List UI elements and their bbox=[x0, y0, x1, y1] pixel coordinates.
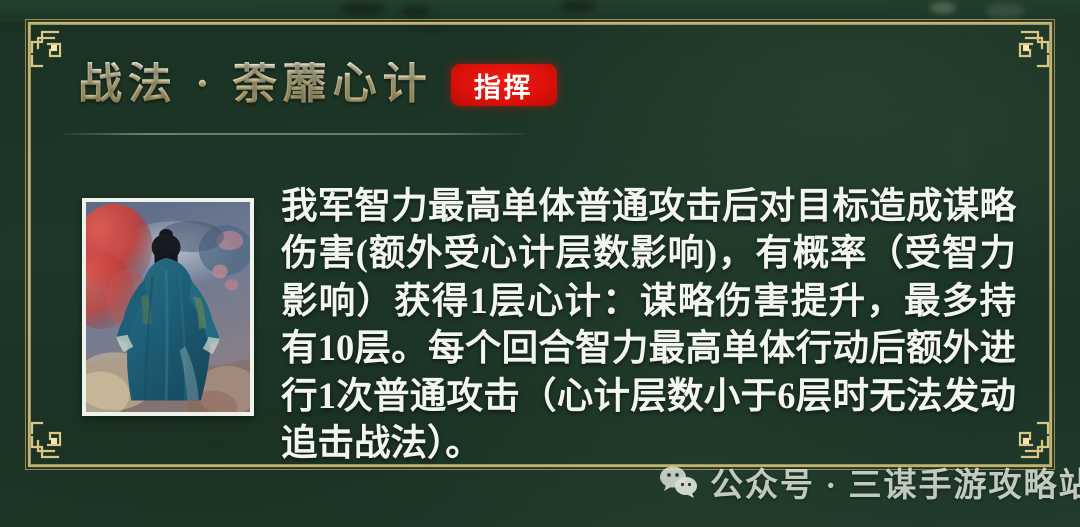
header-divider bbox=[64, 133, 524, 135]
skill-description: 我军智力最高单体普通攻击后对目标造成谋略伤害(额外受心计层数影响)，有概率（受智… bbox=[281, 182, 1016, 467]
page-title: 战法 · 荼蘼心计 bbox=[78, 62, 433, 106]
top-cutoff-strip bbox=[0, 0, 1080, 22]
background-smudge bbox=[400, 6, 430, 18]
skill-card-screen: 战法 · 荼蘼心计 指挥 bbox=[0, 0, 1080, 527]
wechat-icon bbox=[658, 464, 700, 500]
background-smudge bbox=[985, 4, 1025, 18]
character-portrait bbox=[82, 198, 254, 416]
background-smudge bbox=[930, 2, 956, 14]
background-smudge bbox=[340, 2, 384, 16]
corner-ornament-icon bbox=[996, 22, 1052, 78]
corner-ornament-icon bbox=[28, 22, 84, 78]
background-smudge bbox=[560, 0, 596, 13]
card-header: 战法 · 荼蘼心计 指挥 bbox=[78, 62, 557, 106]
corner-ornament-icon bbox=[28, 411, 84, 467]
status-badge: 指挥 bbox=[451, 64, 557, 106]
